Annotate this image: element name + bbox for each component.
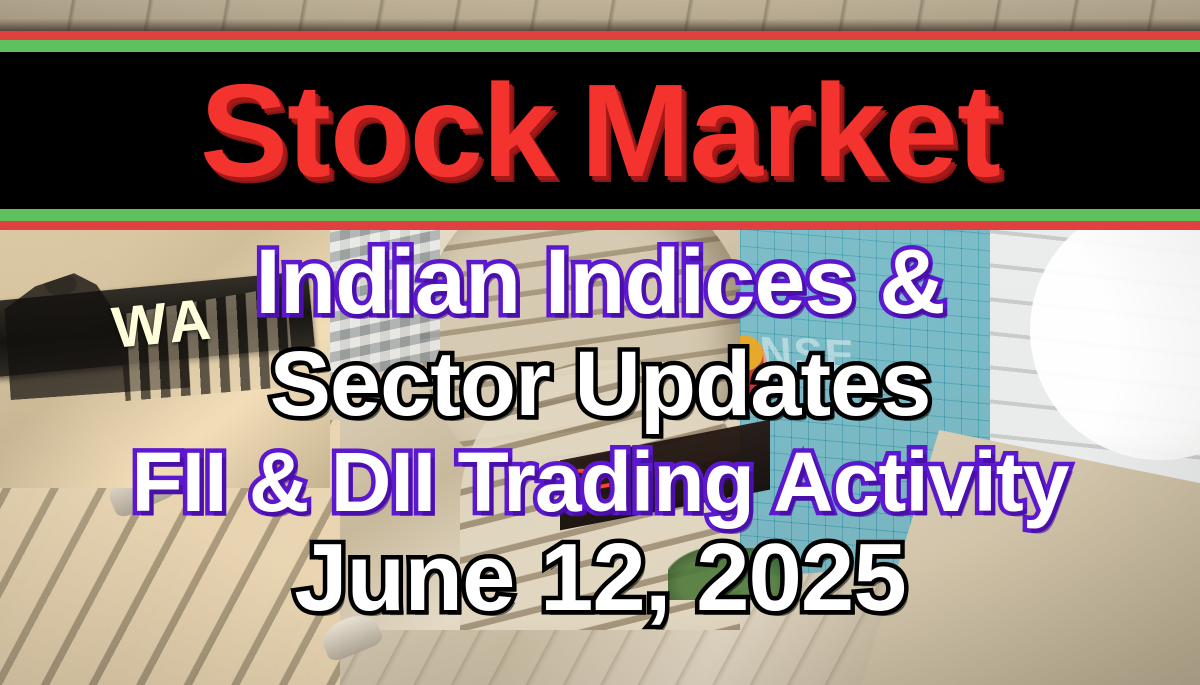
headline-line-date: June 12, 2025 — [0, 530, 1200, 626]
headline-line-fii-dii: FII & DII Trading Activity — [0, 440, 1200, 524]
headline-stack: Indian Indices & Sector Updates FII & DI… — [0, 236, 1200, 626]
headline-line-indian-indices: Indian Indices & — [0, 236, 1200, 328]
thumbnail-stage: NSE 32 WA Stock Market Indian Indices & … — [0, 0, 1200, 685]
stock-market-banner: Stock Market — [0, 31, 1200, 230]
banner-title: Stock Market — [0, 65, 1200, 197]
banner-word-market: Market — [580, 65, 1000, 197]
banner-word-stock: Stock — [200, 65, 554, 197]
headline-line-sector-updates: Sector Updates — [0, 338, 1200, 430]
